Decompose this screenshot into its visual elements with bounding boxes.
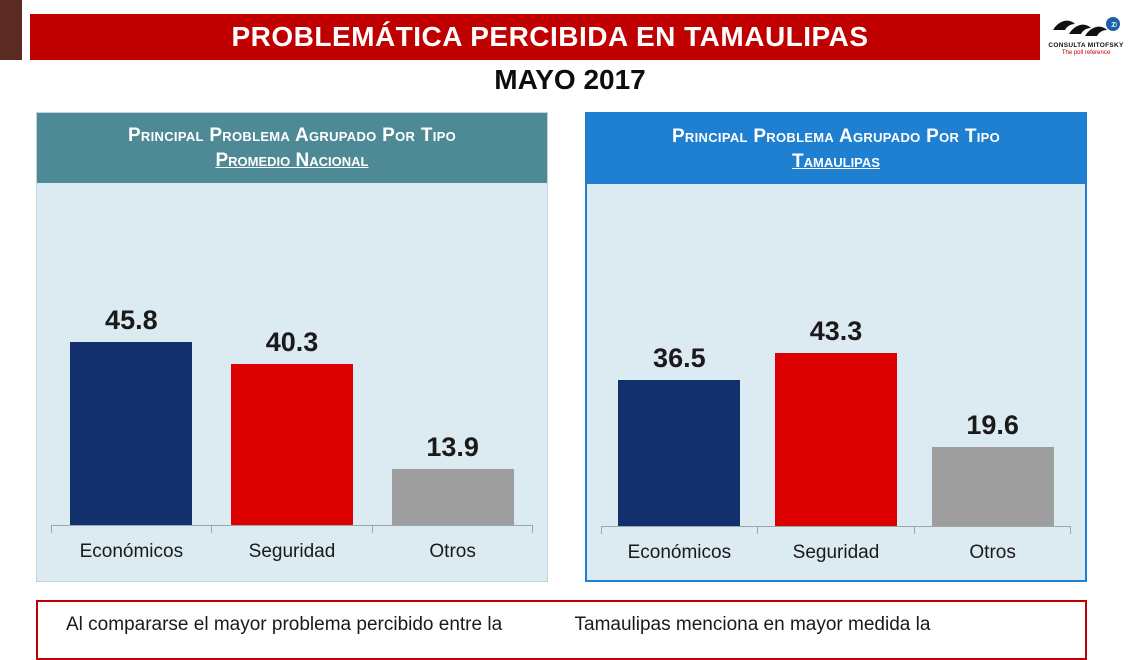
- bar-group: 19.6: [928, 226, 1058, 526]
- bar-economicos: [618, 380, 740, 526]
- page-subtitle: MAYO 2017: [0, 64, 1140, 96]
- footnote-right: Tamaulipas menciona en mayor medida la: [575, 612, 1058, 648]
- axis-tick: [532, 525, 533, 533]
- x-label-economicos: Económicos: [66, 541, 196, 563]
- bar-value-label: 13.9: [426, 432, 479, 463]
- bar-group: 45.8: [66, 225, 196, 525]
- chart-panel-tamaulipas: Principal Problema Agrupado Por Tipo Tam…: [585, 112, 1087, 582]
- x-axis-labels: Económicos Seguridad Otros: [601, 538, 1071, 568]
- axis-tick: [372, 525, 373, 533]
- x-axis-line: [601, 526, 1071, 527]
- decorative-left-strip: [0, 0, 22, 60]
- x-label-seguridad: Seguridad: [771, 542, 901, 564]
- panel-header-nacional: Principal Problema Agrupado Por Tipo Pro…: [37, 113, 547, 183]
- axis-tick: [914, 526, 915, 534]
- bars-container: 36.5 43.3 19.6: [601, 226, 1071, 526]
- bar-value-label: 43.3: [810, 316, 863, 347]
- bar-value-label: 45.8: [105, 305, 158, 336]
- bar-seguridad: [231, 364, 353, 525]
- bar-chart-tamaulipas: 36.5 43.3 19.6 Económicos Seguridad Otro…: [601, 184, 1071, 582]
- panel-header-line2: Tamaulipas: [792, 151, 880, 173]
- bar-economicos: [70, 342, 192, 525]
- footnote-box: Al compararse el mayor problema percibid…: [36, 600, 1087, 660]
- bar-chart-nacional: 45.8 40.3 13.9 Económicos Seguridad Otro…: [51, 183, 533, 581]
- x-label-otros: Otros: [388, 541, 518, 563]
- bar-seguridad: [775, 353, 897, 526]
- panel-header-line2: Promedio Nacional: [215, 150, 368, 172]
- bar-value-label: 19.6: [966, 410, 1019, 441]
- axis-tick: [211, 525, 212, 533]
- x-label-seguridad: Seguridad: [227, 541, 357, 563]
- bar-group: 36.5: [614, 226, 744, 526]
- bar-otros: [932, 447, 1054, 526]
- axis-tick: [1070, 526, 1071, 534]
- axis-tick: [51, 525, 52, 533]
- consulta-mitofsky-logo: 20 CONSULTA MITOFSKY The poll reference: [1040, 8, 1132, 64]
- footnote-left: Al compararse el mayor problema percibid…: [66, 612, 549, 648]
- birds-icon: 20: [1049, 16, 1123, 42]
- logo-name: CONSULTA MITOFSKY: [1048, 43, 1123, 50]
- bar-group: 40.3: [227, 225, 357, 525]
- panel-header-tamaulipas: Principal Problema Agrupado Por Tipo Tam…: [587, 114, 1085, 184]
- bar-otros: [392, 469, 514, 525]
- panel-header-line1: Principal Problema Agrupado Por Tipo: [672, 126, 1000, 148]
- x-axis-labels: Económicos Seguridad Otros: [51, 537, 533, 567]
- logo-tagline: The poll reference: [1062, 50, 1110, 56]
- panel-header-line1: Principal Problema Agrupado Por Tipo: [128, 125, 456, 147]
- x-label-economicos: Económicos: [614, 542, 744, 564]
- page-title: PROBLEMÁTICA PERCIBIDA EN TAMAULIPAS: [231, 21, 868, 53]
- bar-group: 43.3: [771, 226, 901, 526]
- x-axis-line: [51, 525, 533, 526]
- bar-group: 13.9: [388, 225, 518, 525]
- bars-container: 45.8 40.3 13.9: [51, 225, 533, 525]
- axis-tick: [601, 526, 602, 534]
- x-label-otros: Otros: [928, 542, 1058, 564]
- chart-panel-nacional: Principal Problema Agrupado Por Tipo Pro…: [36, 112, 548, 582]
- bar-value-label: 40.3: [266, 327, 319, 358]
- title-banner: PROBLEMÁTICA PERCIBIDA EN TAMAULIPAS: [30, 14, 1070, 60]
- bar-value-label: 36.5: [653, 343, 706, 374]
- axis-tick: [757, 526, 758, 534]
